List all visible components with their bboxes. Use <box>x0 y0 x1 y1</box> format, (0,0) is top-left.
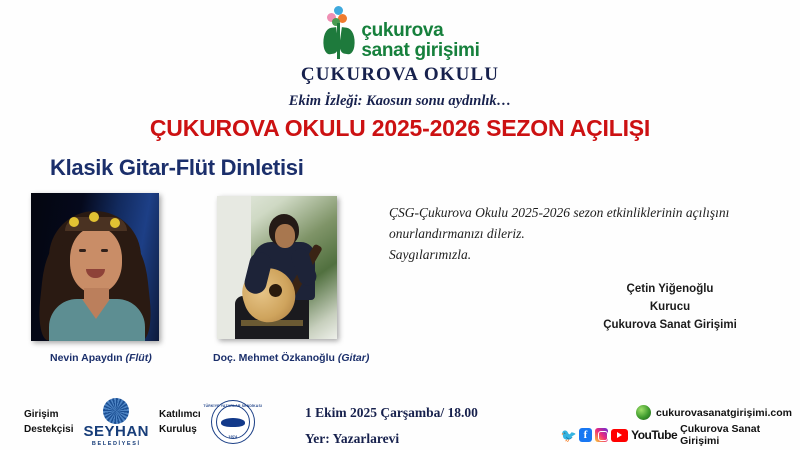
seyhan-name: SEYHAN <box>83 424 149 441</box>
portrait-eye-left <box>79 249 86 252</box>
logo-leaf-right-icon <box>339 27 357 55</box>
performer-name-flute: Nevin Apaydın <box>50 352 123 364</box>
website-url[interactable]: cukurovasanatgirişimi.com <box>656 407 792 419</box>
seyhan-municipality-logo: SEYHAN BELEDİYESİ <box>83 398 149 447</box>
seal-year: 1974 <box>228 434 237 439</box>
signature-role: Kurucu <box>560 299 780 317</box>
sponsor-bar: Girişim Destekçisi SEYHAN BELEDİYESİ Kat… <box>24 398 255 447</box>
event-venue: Yer: Yazarlarevi <box>305 426 478 450</box>
instagram-icon[interactable] <box>595 428 608 442</box>
seyhan-subtitle: BELEDİYESİ <box>92 441 141 447</box>
website-row: cukurovasanatgirişimi.com <box>562 405 792 420</box>
logo-line-1: çukurova <box>361 21 479 40</box>
organization-logo: çukurova sanat girişimi ÇUKUROVA OKULU <box>0 6 800 86</box>
social-bar: cukurovasanatgirişimi.com 🐦 f YouTube Çu… <box>562 405 792 447</box>
guitarist-face <box>275 224 295 248</box>
caption-guitar: Doç. Mehmet Özkanoğlu (Gitar) <box>213 352 369 364</box>
poster-canvas: çukurova sanat girişimi ÇUKUROVA OKULU E… <box>0 0 800 450</box>
invitation-line-3: Saygılarımızla. <box>389 245 749 266</box>
portrait-eye-right <box>101 249 108 252</box>
invitation-text: ÇSG-Çukurova Okulu 2025-2026 sezon etkin… <box>389 203 749 266</box>
performer-photo-flute <box>31 193 159 341</box>
supporter-label-line-2: Destekçisi <box>24 422 73 437</box>
logo-line-2: sanat girişimi <box>361 41 479 60</box>
logo-row: çukurova sanat girişimi <box>320 6 479 62</box>
logo-wordmark: çukurova sanat girişimi <box>361 21 479 62</box>
youtube-icon[interactable] <box>611 429 628 442</box>
event-title: Klasik Gitar-Flüt Dinletisi <box>50 155 304 181</box>
supporter-label-line-1: Girişim <box>24 407 73 422</box>
supporter-label: Girişim Destekçisi <box>24 407 73 437</box>
performer-name-guitar: Doç. Mehmet Özkanoğlu <box>213 352 335 364</box>
signature-organization: Çukurova Sanat Girişimi <box>560 317 780 335</box>
participant-label-line-1: Katılımcı <box>159 407 201 422</box>
performer-instrument-guitar: (Gitar) <box>338 352 370 364</box>
logo-subtitle: ÇUKUROVA OKULU <box>301 64 499 86</box>
event-details: 1 Ekim 2025 Çarşamba/ 18.00 Yer: Yazarla… <box>305 400 478 450</box>
youtube-label: YouTube <box>631 428 677 442</box>
signature-name: Çetin Yiğenoğlu <box>560 281 780 299</box>
headband-flower-2-icon <box>89 212 99 222</box>
social-handle[interactable]: Çukurova Sanat Girişimi <box>680 423 792 447</box>
performer-photo-guitar <box>217 196 337 339</box>
performer-instrument-flute: (Flüt) <box>125 352 151 364</box>
turkiye-yazarlar-sendikasi-seal: TÜRKİYE YAZARLAR SENDİKASI 1974 <box>211 400 255 444</box>
participant-label-line-2: Kuruluş <box>159 422 201 437</box>
globe-icon <box>636 405 651 420</box>
page-title: ÇUKUROVA OKULU 2025-2026 SEZON AÇILIŞI <box>0 115 800 142</box>
season-kicker: Ekim İzleği: Kaosun sonu aydınlık… <box>0 93 800 110</box>
invitation-line-2: onurlandırmanızı dileriz. <box>389 224 749 245</box>
portrait-face <box>70 227 122 293</box>
caption-flute: Nevin Apaydın (Flüt) <box>50 352 152 364</box>
event-date: 1 Ekim 2025 Çarşamba/ 18.00 <box>305 400 478 426</box>
headband-flower-1-icon <box>69 217 79 227</box>
signature-block: Çetin Yiğenoğlu Kurucu Çukurova Sanat Gi… <box>560 281 780 334</box>
twitter-icon[interactable]: 🐦 <box>562 428 576 442</box>
participant-label: Katılımcı Kuruluş <box>159 407 201 437</box>
headband-flower-3-icon <box>110 218 120 228</box>
invitation-line-1: ÇSG-Çukurova Okulu 2025-2026 sezon etkin… <box>389 203 749 224</box>
facebook-icon[interactable]: f <box>579 428 592 442</box>
bird-icon <box>221 418 245 427</box>
social-icons-row: 🐦 f YouTube Çukurova Sanat Girişimi <box>562 423 792 447</box>
seal-top-text: TÜRKİYE YAZARLAR SENDİKASI <box>203 404 262 408</box>
seyhan-swirl-icon <box>103 398 129 424</box>
flower-logo-icon <box>320 6 358 62</box>
